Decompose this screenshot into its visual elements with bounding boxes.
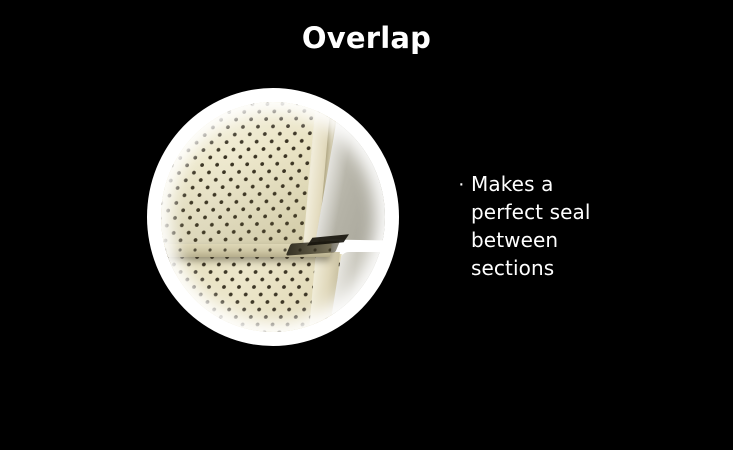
list-item: · Makes a perfect seal between sections <box>458 170 688 282</box>
page-title: Overlap <box>0 21 733 55</box>
product-photo-circle <box>147 88 399 346</box>
panel-overlap-scene <box>161 102 385 332</box>
product-photo-image <box>161 102 385 332</box>
slide-canvas: Overlap <box>0 0 733 450</box>
bullet-list: · Makes a perfect seal between sections <box>458 170 688 282</box>
bullet-dot-icon: · <box>458 170 471 198</box>
bullet-item-label: Makes a perfect seal between sections <box>471 170 591 282</box>
